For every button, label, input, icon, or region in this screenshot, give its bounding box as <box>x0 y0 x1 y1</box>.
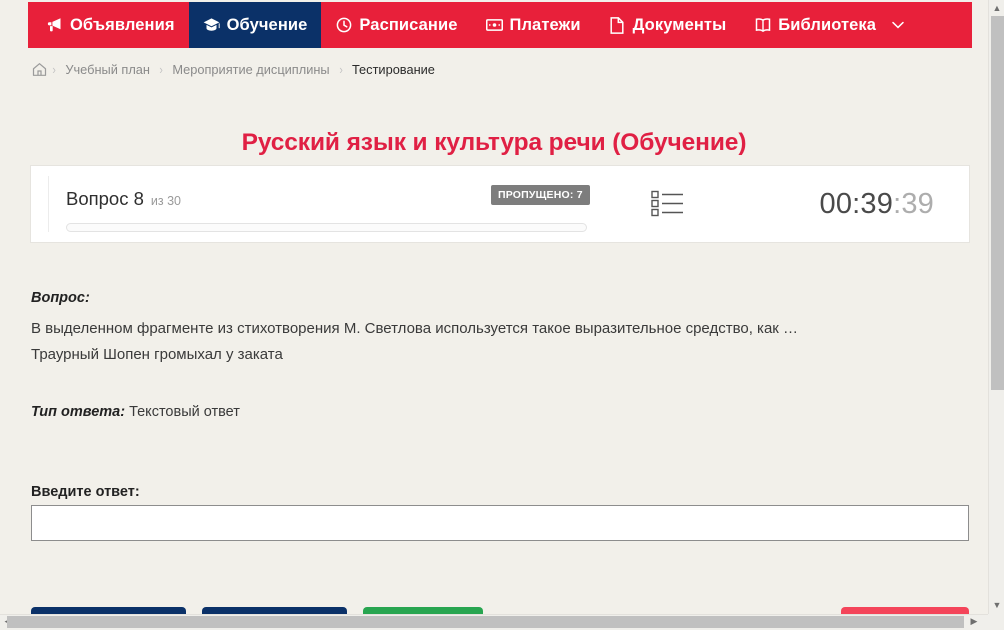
question-text-line-1: В выделенном фрагменте из стихотворения … <box>31 316 951 342</box>
action-buttons: Предыдущий вопрос Следующий вопрос Пропу… <box>31 607 969 614</box>
nav-item-announcements[interactable]: Объявления <box>28 2 189 48</box>
money-bill-icon <box>486 17 503 34</box>
question-heading: Вопрос: <box>31 290 951 306</box>
main-navigation: Объявления Обучение Расписание <box>28 2 972 48</box>
nav-item-payments[interactable]: Платежи <box>472 2 595 48</box>
nav-item-label: Расписание <box>359 16 457 35</box>
question-progress-section: Вопрос 8 из 30 ПРОПУЩЕНО: 7 <box>31 166 587 242</box>
question-status-card: Вопрос 8 из 30 ПРОПУЩЕНО: 7 <box>30 165 970 243</box>
question-body: Вопрос: В выделенном фрагменте из стихот… <box>31 290 951 368</box>
graduation-cap-icon <box>203 17 220 34</box>
breadcrumb-item-testing: Тестирование <box>344 62 443 77</box>
question-list-section <box>587 166 749 242</box>
answer-input[interactable] <box>31 505 969 541</box>
countdown-timer: 00:39:39 <box>819 188 934 221</box>
nav-item-label: Документы <box>633 16 727 35</box>
page-content: Объявления Обучение Расписание <box>0 0 988 614</box>
nav-item-label: Обучение <box>227 16 308 35</box>
question-text-line-2: Траурный Шопен громыхал у заката <box>31 342 951 368</box>
horizontal-scrollbar-thumb[interactable] <box>7 616 964 628</box>
finish-test-button[interactable]: Завершить тест <box>841 607 969 614</box>
breadcrumb-item-discipline-event[interactable]: Мероприятие дисциплины <box>164 62 337 77</box>
nav-item-label: Объявления <box>70 16 175 35</box>
breadcrumb: › Учебный план › Мероприятие дисциплины … <box>32 62 443 77</box>
nav-item-schedule[interactable]: Расписание <box>321 2 471 48</box>
question-number-row: Вопрос 8 из 30 ПРОПУЩЕНО: 7 <box>66 188 587 210</box>
next-question-button[interactable]: Следующий вопрос <box>202 607 347 614</box>
nav-spacer <box>918 2 972 48</box>
list-icon[interactable] <box>651 188 685 223</box>
breadcrumb-separator: › <box>52 62 57 77</box>
scrollbar-corner <box>988 614 1004 630</box>
status-badge-skipped: ПРОПУЩЕНО: 7 <box>491 185 590 205</box>
home-icon[interactable] <box>32 62 51 77</box>
question-number: Вопрос 8 <box>66 188 144 210</box>
breadcrumb-separator: › <box>159 62 164 77</box>
scroll-up-arrow-icon[interactable]: ▲ <box>989 4 1004 13</box>
question-total: из 30 <box>151 194 181 208</box>
answer-input-label: Введите ответ: <box>31 484 140 500</box>
bullhorn-icon <box>46 17 63 34</box>
horizontal-scrollbar[interactable]: ◀ ▶ <box>0 614 1004 630</box>
nav-item-label: Платежи <box>510 16 581 35</box>
chevron-down-icon <box>892 21 904 29</box>
file-icon <box>609 17 626 34</box>
vertical-scrollbar[interactable]: ▲ ▼ <box>988 0 1004 630</box>
answer-type-row: Тип ответа: Текстовый ответ <box>31 404 240 420</box>
skip-question-button[interactable]: Пропустить <box>363 607 483 614</box>
nav-item-library[interactable]: Библиотека <box>740 2 918 48</box>
nav-item-learning[interactable]: Обучение <box>189 2 322 48</box>
previous-question-button[interactable]: Предыдущий вопрос <box>31 607 186 614</box>
browser-viewport: Объявления Обучение Расписание <box>0 0 1004 630</box>
page-title: Русский язык и культура речи (Обучение) <box>0 129 988 157</box>
answer-type-label: Тип ответа: <box>31 404 125 420</box>
question-progress-bar <box>66 223 587 232</box>
answer-type-value: Текстовый ответ <box>129 404 240 420</box>
vertical-scrollbar-thumb[interactable] <box>991 16 1004 390</box>
book-icon <box>754 17 771 34</box>
timer-hours-minutes: 00:39 <box>819 188 893 220</box>
timer-section: 00:39:39 <box>749 166 969 242</box>
timer-seconds: 39 <box>901 188 934 220</box>
breadcrumb-item-curriculum[interactable]: Учебный план <box>57 62 158 77</box>
scroll-down-arrow-icon[interactable]: ▼ <box>989 601 1004 610</box>
breadcrumb-separator: › <box>338 62 343 77</box>
nav-item-documents[interactable]: Документы <box>595 2 741 48</box>
scroll-right-arrow-icon[interactable]: ▶ <box>966 617 982 626</box>
clock-icon <box>335 17 352 34</box>
nav-item-label: Библиотека <box>778 16 876 35</box>
